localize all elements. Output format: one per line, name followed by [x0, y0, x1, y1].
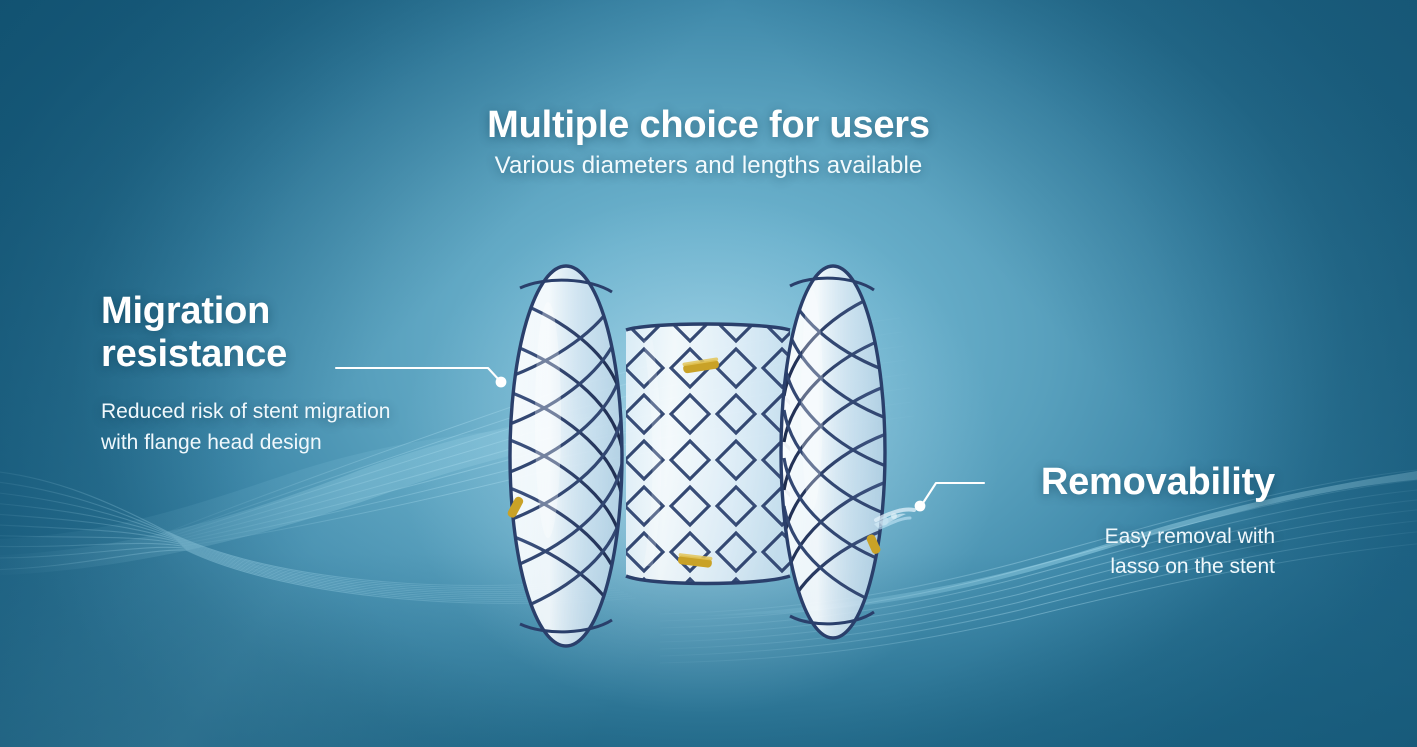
left-heading-line1: Migration — [101, 290, 521, 333]
right-subtext-line1: Easy removal with — [845, 522, 1275, 552]
left-subtext-line2: with flange head design — [101, 428, 521, 458]
right-subtext-line2: lasso on the stent — [845, 552, 1275, 582]
callout-left: Migration resistance Reduced risk of ste… — [101, 290, 521, 458]
callout-top: Multiple choice for users Various diamet… — [0, 104, 1417, 180]
left-subtext-line1: Reduced risk of stent migration — [101, 397, 521, 427]
callout-right: Removability Easy removal with lasso on … — [845, 461, 1275, 582]
infographic-canvas: Multiple choice for users Various diamet… — [0, 0, 1417, 747]
top-subtext: Various diameters and lengths available — [0, 152, 1417, 181]
left-heading-line2: resistance — [101, 333, 521, 376]
top-heading: Multiple choice for users — [0, 104, 1417, 147]
right-heading: Removability — [845, 461, 1275, 504]
